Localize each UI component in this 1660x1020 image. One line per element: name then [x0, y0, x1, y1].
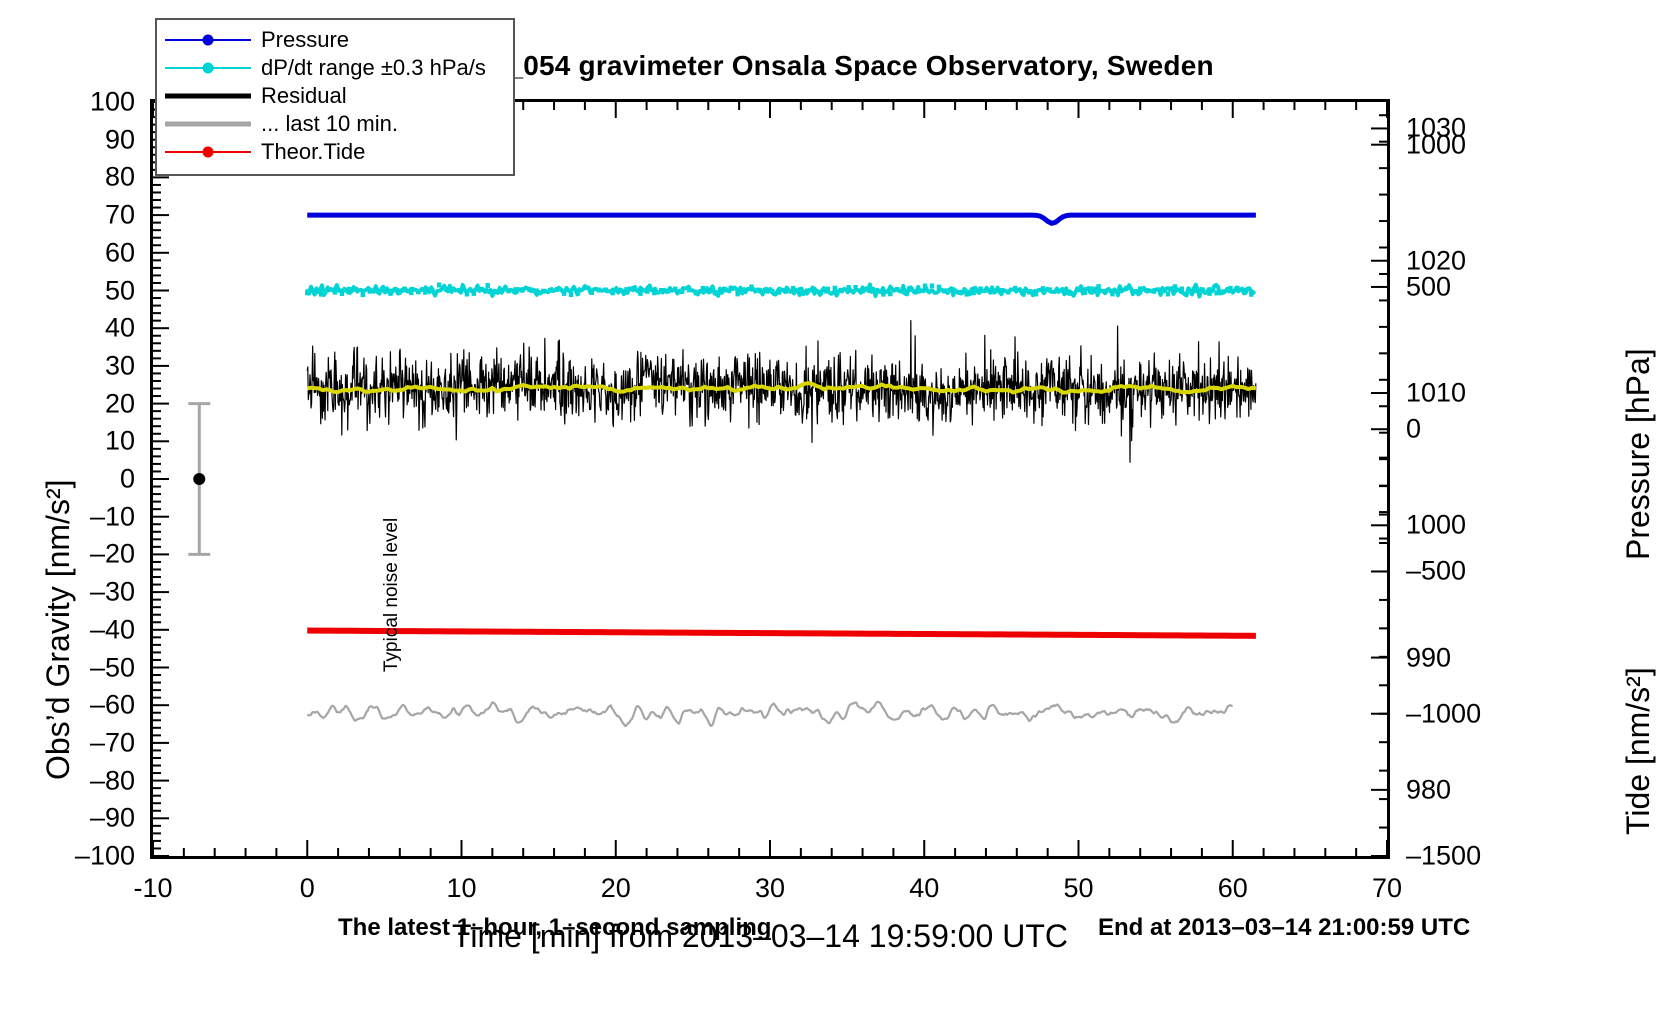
legend-marker-dot [203, 63, 214, 74]
ticks-right-pressure-label: 1000 [1406, 510, 1526, 541]
y-axis-title-right-tide: Tide [nm/s²] [1620, 667, 1657, 835]
legend-swatch-icon [165, 30, 251, 50]
ticks-right-tide-label: 500 [1406, 271, 1526, 302]
ticks-left-label: 80 [30, 162, 135, 193]
legend-marker-dot [203, 147, 214, 158]
legend-item-0[interactable]: Pressure [165, 26, 505, 54]
ticks-left-label: 40 [30, 313, 135, 344]
ticks-right-pressure-label: 980 [1406, 774, 1526, 805]
ticks-bottom-label: 40 [879, 873, 969, 904]
legend-swatch-icon [165, 114, 251, 134]
ticks-left-label: –40 [30, 614, 135, 645]
ticks-left-label: –20 [30, 539, 135, 570]
ticks-bottom-label: 10 [417, 873, 507, 904]
ticks-left-label: 70 [30, 200, 135, 231]
ticks-bottom-label: 50 [1034, 873, 1124, 904]
ticks-left-label: –10 [30, 501, 135, 532]
ticks-left-label: –30 [30, 577, 135, 608]
plot-area: The latest 1–hour, 1–second sampling End… [150, 99, 1390, 859]
ticks-left-label: –80 [30, 765, 135, 796]
legend-item-label: ... last 10 min. [261, 111, 398, 137]
data-series-group [305, 215, 1256, 726]
ticks-left-label: –50 [30, 652, 135, 683]
ticks-left-label: 20 [30, 388, 135, 419]
ticks-bottom-label: 60 [1188, 873, 1278, 904]
ticks-left-label: 100 [30, 87, 135, 118]
ticks-bottom-label: 20 [571, 873, 661, 904]
legend-item-label: dP/dt range ±0.3 hPa/s [261, 55, 486, 81]
legend-swatch-icon [165, 58, 251, 78]
ticks-bottom-label: 30 [725, 873, 815, 904]
legend-item-label: Residual [261, 83, 347, 109]
plot-canvas [153, 102, 1387, 856]
ticks-right-tide-label: 0 [1406, 414, 1526, 445]
ticks-left-label: 50 [30, 275, 135, 306]
typical-noise-level-label: Typical noise level [381, 518, 403, 672]
ticks-right-tide-label: –500 [1406, 556, 1526, 587]
ticks-left-label: –70 [30, 727, 135, 758]
chart-root: SCG_054 gravimeter Onsala Space Observat… [0, 0, 1660, 1020]
ticks-right-pressure-label: 1010 [1406, 378, 1526, 409]
legend-swatch-icon [165, 142, 251, 162]
ticks-bottom-label: 70 [1342, 873, 1432, 904]
typical-noise-errorbar [188, 404, 210, 555]
series-theor-tide [307, 631, 1256, 636]
end-time-note: End at 2013–03–14 21:00:59 UTC [1098, 914, 1470, 942]
legend-item-label: Theor.Tide [261, 139, 365, 165]
ticks-left-label: 60 [30, 237, 135, 268]
y-axis-title-right-pressure: Pressure [hPa] [1620, 348, 1657, 560]
legend-item-2[interactable]: Residual [165, 82, 505, 110]
ticks-right-tide-label: –1000 [1406, 698, 1526, 729]
series-last-10-min [307, 702, 1233, 726]
ticks-left-label: 30 [30, 350, 135, 381]
series-pressure [307, 215, 1256, 223]
legend-swatch-icon [165, 86, 251, 106]
ticks-left-label: –100 [30, 841, 135, 872]
ticks-left-label: 10 [30, 426, 135, 457]
legend: PressuredP/dt range ±0.3 hPa/sResidual..… [155, 18, 515, 176]
ticks-left-label: –60 [30, 690, 135, 721]
ticks-left-label: –90 [30, 803, 135, 834]
ticks-bottom-label: 0 [262, 873, 352, 904]
ticks-left-label: 0 [30, 464, 135, 495]
legend-item-label: Pressure [261, 27, 349, 53]
legend-item-3[interactable]: ... last 10 min. [165, 110, 505, 138]
ticks-right-tide-label: –1500 [1406, 841, 1526, 872]
legend-item-1[interactable]: dP/dt range ±0.3 hPa/s [165, 54, 505, 82]
ticks-right-tide-label: 1000 [1406, 129, 1526, 160]
ticks-bottom-label: -10 [108, 873, 198, 904]
noise-bar-center-dot [193, 473, 205, 485]
legend-item-4[interactable]: Theor.Tide [165, 138, 505, 166]
legend-marker-dot [203, 35, 214, 46]
ticks-right-pressure-label: 990 [1406, 642, 1526, 673]
sampling-note: The latest 1–hour, 1–second sampling [338, 914, 771, 942]
ticks-left-label: 90 [30, 124, 135, 155]
